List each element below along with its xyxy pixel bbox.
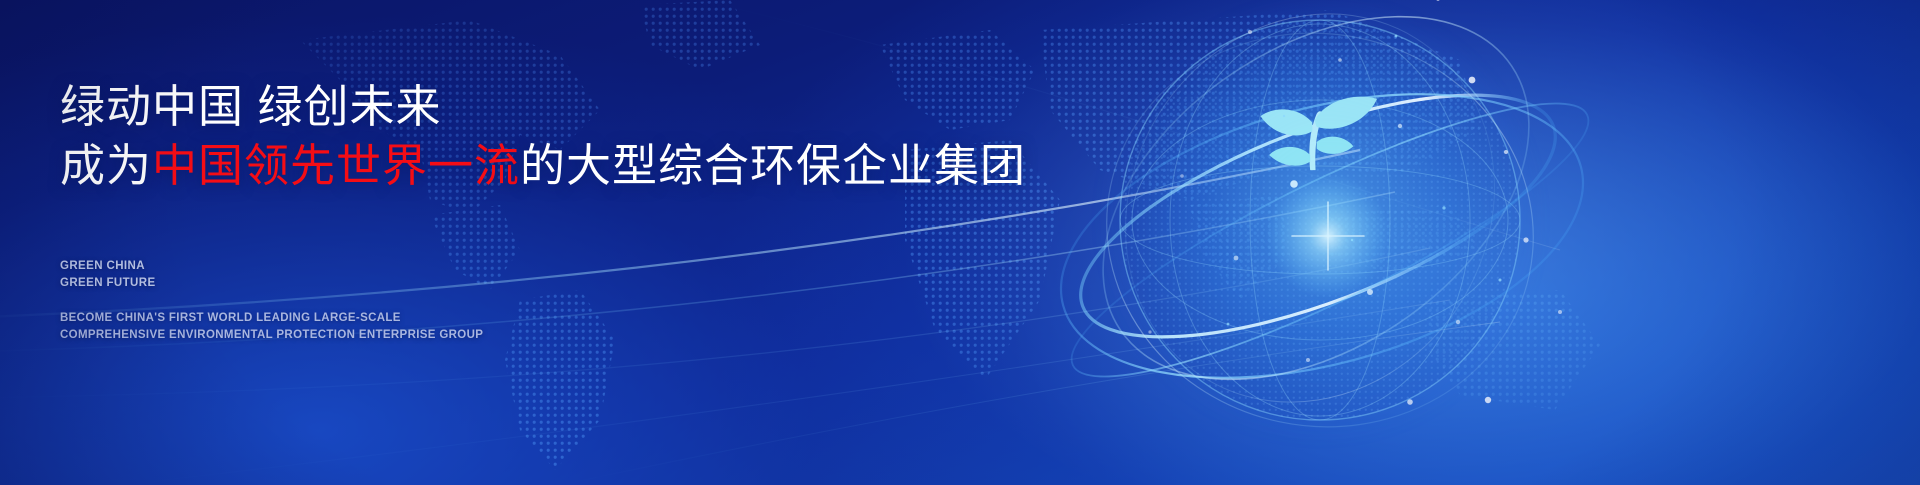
tagline-line-2: COMPREHENSIVE ENVIRONMENTAL PROTECTION E…	[60, 327, 483, 344]
headline-highlight: 中国领先世界一流	[152, 140, 520, 191]
tagline-line-1: BECOME CHINA'S FIRST WORLD LEADING LARGE…	[60, 310, 483, 327]
headline-line-2: 成为中国领先世界一流的大型综合环保企业集团	[60, 137, 1040, 196]
headline-line-1: 绿动中国 绿创未来	[60, 78, 1040, 137]
headline-prefix: 成为	[60, 140, 152, 191]
headline-block: 绿动中国 绿创未来 成为中国领先世界一流的大型综合环保企业集团	[60, 78, 1040, 195]
headline-suffix: 的大型综合环保企业集团	[520, 140, 1026, 191]
slogan-line-2: GREEN FUTURE	[60, 275, 156, 292]
tagline-english: BECOME CHINA'S FIRST WORLD LEADING LARGE…	[60, 310, 483, 343]
hero-banner: 绿动中国 绿创未来 成为中国领先世界一流的大型综合环保企业集团 GREEN CH…	[0, 0, 1920, 485]
slogan-line-1: GREEN CHINA	[60, 258, 156, 275]
banner-content: 绿动中国 绿创未来 成为中国领先世界一流的大型综合环保企业集团 GREEN CH…	[60, 0, 1060, 485]
slogan-english: GREEN CHINA GREEN FUTURE	[60, 258, 156, 291]
